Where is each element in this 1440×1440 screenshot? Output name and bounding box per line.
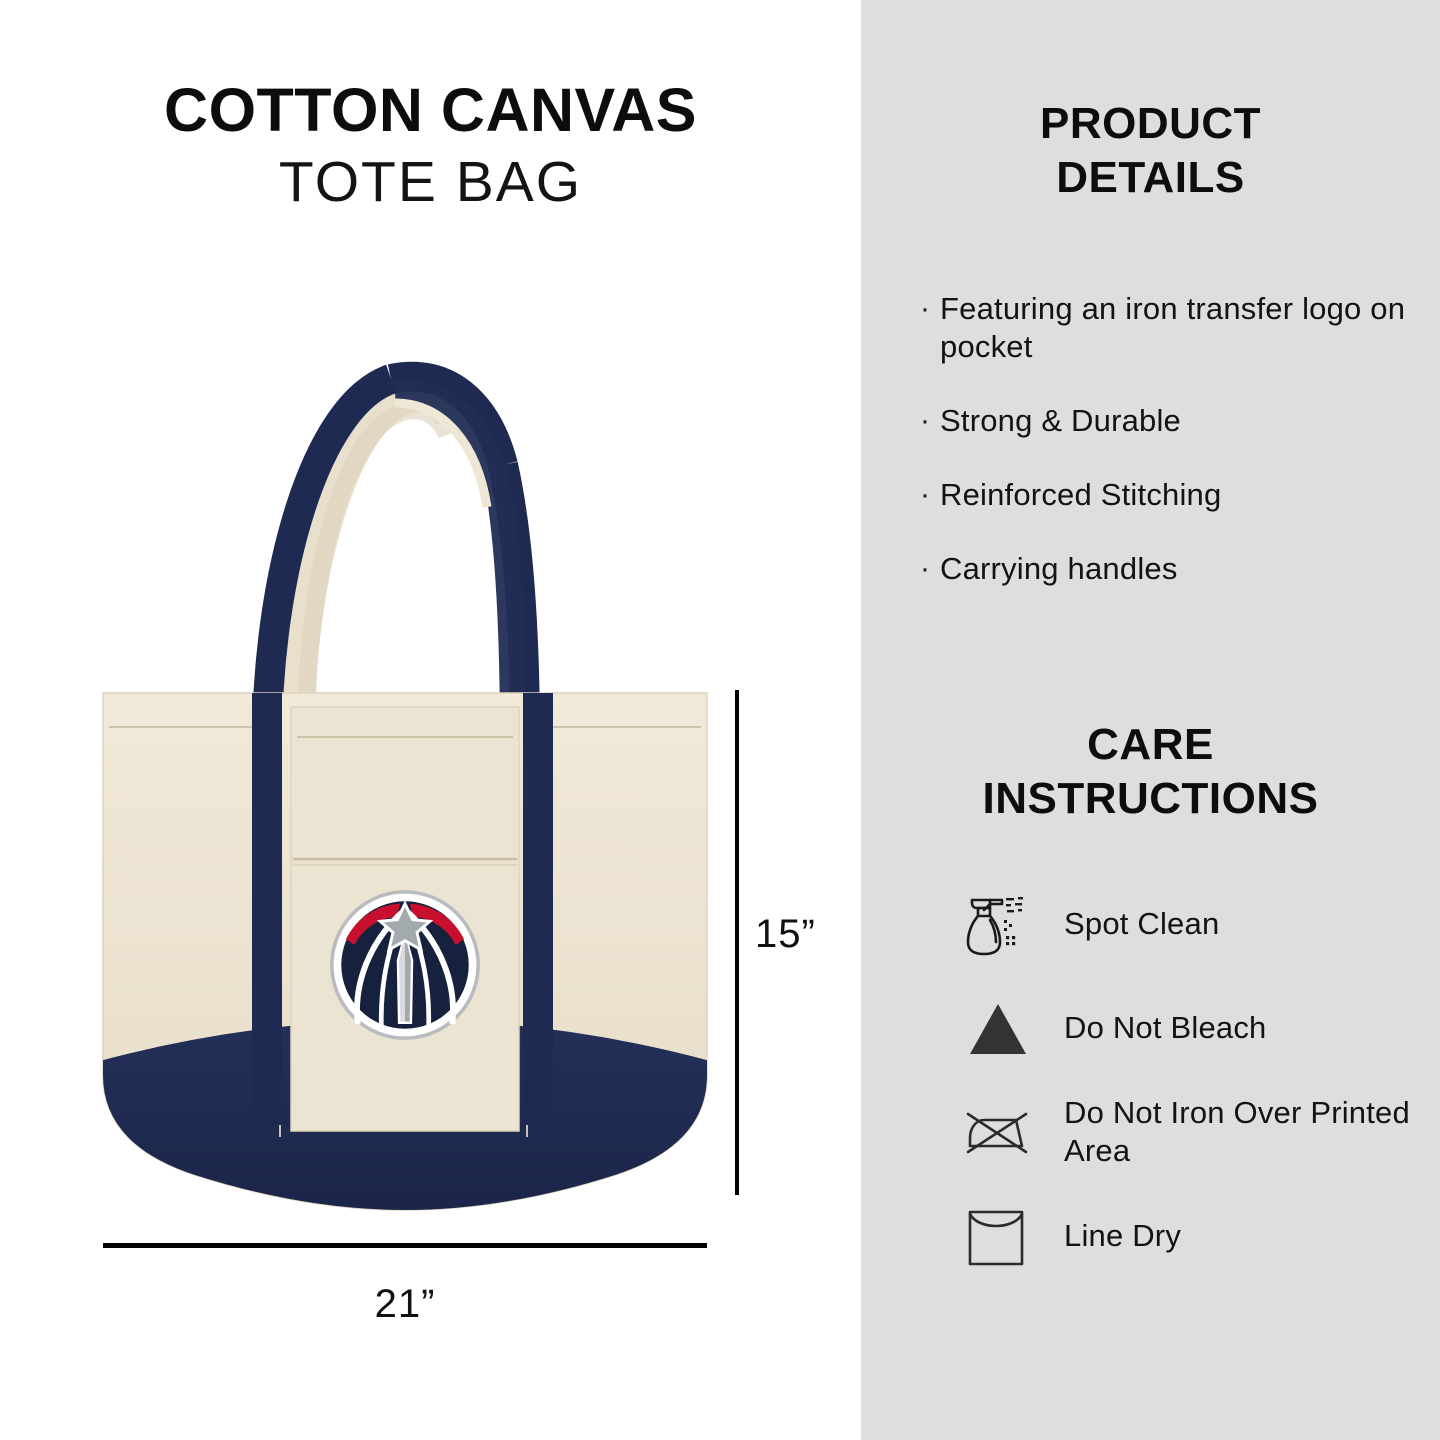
list-item: · Strong & Durable xyxy=(920,402,1410,440)
care-instructions-heading-line-1: CARE xyxy=(861,718,1440,772)
tote-bag-illustration xyxy=(95,275,715,1215)
line-dry-icon xyxy=(960,1195,1064,1277)
care-row-do-not-iron: Do Not Iron Over Printed Area xyxy=(960,1080,1420,1184)
bullet-marker-icon: · xyxy=(920,402,940,440)
care-label-do-not-bleach: Do Not Bleach xyxy=(1064,1009,1266,1047)
list-item: · Carrying handles xyxy=(920,550,1410,588)
bullet-marker-icon: · xyxy=(920,290,940,328)
do-not-iron-icon xyxy=(960,1091,1064,1173)
product-details-heading: PRODUCT DETAILS xyxy=(861,97,1440,204)
title-line-2: TOTE BAG xyxy=(0,150,861,216)
care-instructions-heading-line-2: INSTRUCTIONS xyxy=(861,772,1440,826)
care-row-spot-clean: Spot Clean xyxy=(960,872,1420,976)
care-label-spot-clean: Spot Clean xyxy=(1064,905,1219,943)
height-dimension-line xyxy=(735,690,739,1195)
list-item-label: Reinforced Stitching xyxy=(940,476,1221,514)
width-dimension-line xyxy=(103,1243,707,1248)
care-row-do-not-bleach: Do Not Bleach xyxy=(960,976,1420,1080)
care-instructions-heading: CARE INSTRUCTIONS xyxy=(861,718,1440,825)
list-item-label: Strong & Durable xyxy=(940,402,1181,440)
product-details-list: · Featuring an iron transfer logo on poc… xyxy=(920,290,1410,624)
care-label-do-not-iron: Do Not Iron Over Printed Area xyxy=(1064,1094,1420,1170)
width-dimension-label: 21” xyxy=(0,1282,810,1327)
product-details-heading-line-2: DETAILS xyxy=(861,151,1440,205)
list-item: · Reinforced Stitching xyxy=(920,476,1410,514)
list-item: · Featuring an iron transfer logo on poc… xyxy=(920,290,1410,366)
washington-wizards-logo xyxy=(332,892,478,1038)
do-not-bleach-triangle-icon xyxy=(960,987,1064,1069)
bag-handles xyxy=(267,377,525,745)
care-instructions-list: Spot Clean Do Not Bleach xyxy=(960,872,1420,1288)
list-item-label: Featuring an iron transfer logo on pocke… xyxy=(940,290,1410,366)
tote-bag-image xyxy=(95,275,715,1215)
spray-bottle-icon xyxy=(960,883,1064,965)
care-row-line-dry: Line Dry xyxy=(960,1184,1420,1288)
product-details-heading-line-1: PRODUCT xyxy=(861,97,1440,151)
product-infographic: COTTON CANVAS TOTE BAG xyxy=(0,0,1440,1440)
title-line-1: COTTON CANVAS xyxy=(0,78,861,142)
list-item-label: Carrying handles xyxy=(940,550,1178,588)
height-dimension-label: 15” xyxy=(755,912,816,957)
bullet-marker-icon: · xyxy=(920,476,940,514)
care-label-line-dry: Line Dry xyxy=(1064,1217,1181,1255)
left-panel: COTTON CANVAS TOTE BAG xyxy=(0,0,861,1440)
bullet-marker-icon: · xyxy=(920,550,940,588)
page-title: COTTON CANVAS TOTE BAG xyxy=(0,78,861,216)
